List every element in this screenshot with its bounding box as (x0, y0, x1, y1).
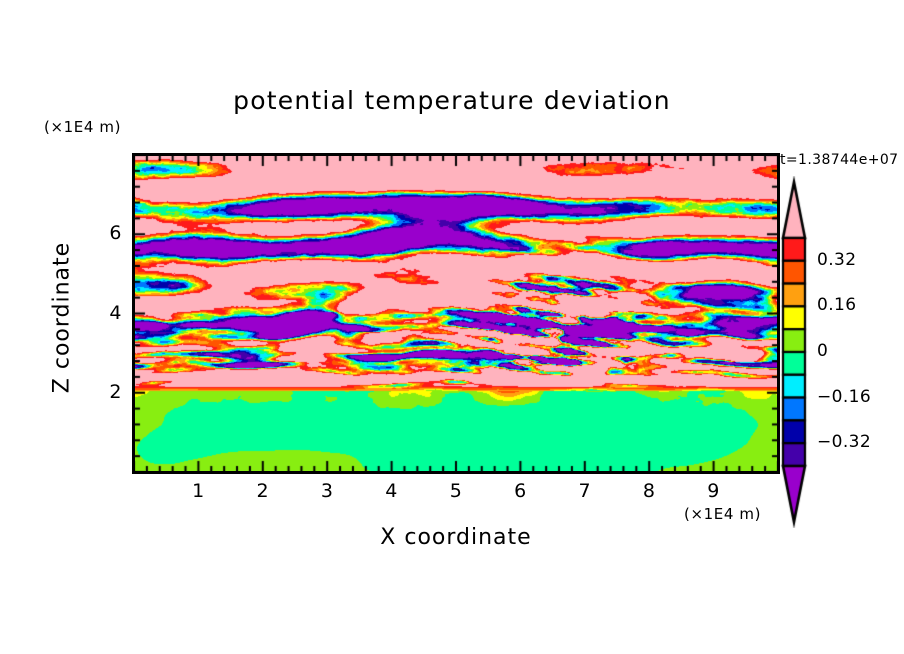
figure-root: potential temperature deviation (×1E4 m)… (0, 0, 904, 654)
y-tick-label: 4 (82, 302, 122, 324)
chart-title: potential temperature deviation (0, 86, 904, 115)
colorbar-tick-label: −0.32 (817, 432, 871, 452)
x-tick-label: 4 (372, 480, 412, 502)
x-tick-label: 9 (694, 480, 734, 502)
y-tick-label: 2 (82, 381, 122, 403)
colorbar-tick-label: −0.16 (817, 387, 871, 407)
x-tick-label: 8 (629, 480, 669, 502)
y-tick-label: 6 (82, 222, 122, 244)
x-tick-label: 1 (178, 480, 218, 502)
x-axis-unit-label: (×1E4 m) (684, 505, 761, 523)
contour-plot-canvas (134, 155, 778, 472)
timestamp-annotation: t=1.38744e+07 (780, 152, 898, 168)
x-tick-label: 2 (243, 480, 283, 502)
colorbar-tick-label: 0 (817, 341, 828, 361)
colorbar-canvas (774, 176, 814, 528)
x-axis-title: X coordinate (134, 525, 778, 550)
y-axis-title: Z coordinate (50, 218, 75, 418)
x-tick-label: 7 (565, 480, 605, 502)
x-tick-label: 6 (500, 480, 540, 502)
colorbar-tick-label: 0.32 (817, 250, 856, 270)
x-tick-label: 3 (307, 480, 347, 502)
x-tick-label: 5 (436, 480, 476, 502)
y-axis-unit-label: (×1E4 m) (44, 118, 121, 136)
colorbar-tick-label: 0.16 (817, 295, 856, 315)
